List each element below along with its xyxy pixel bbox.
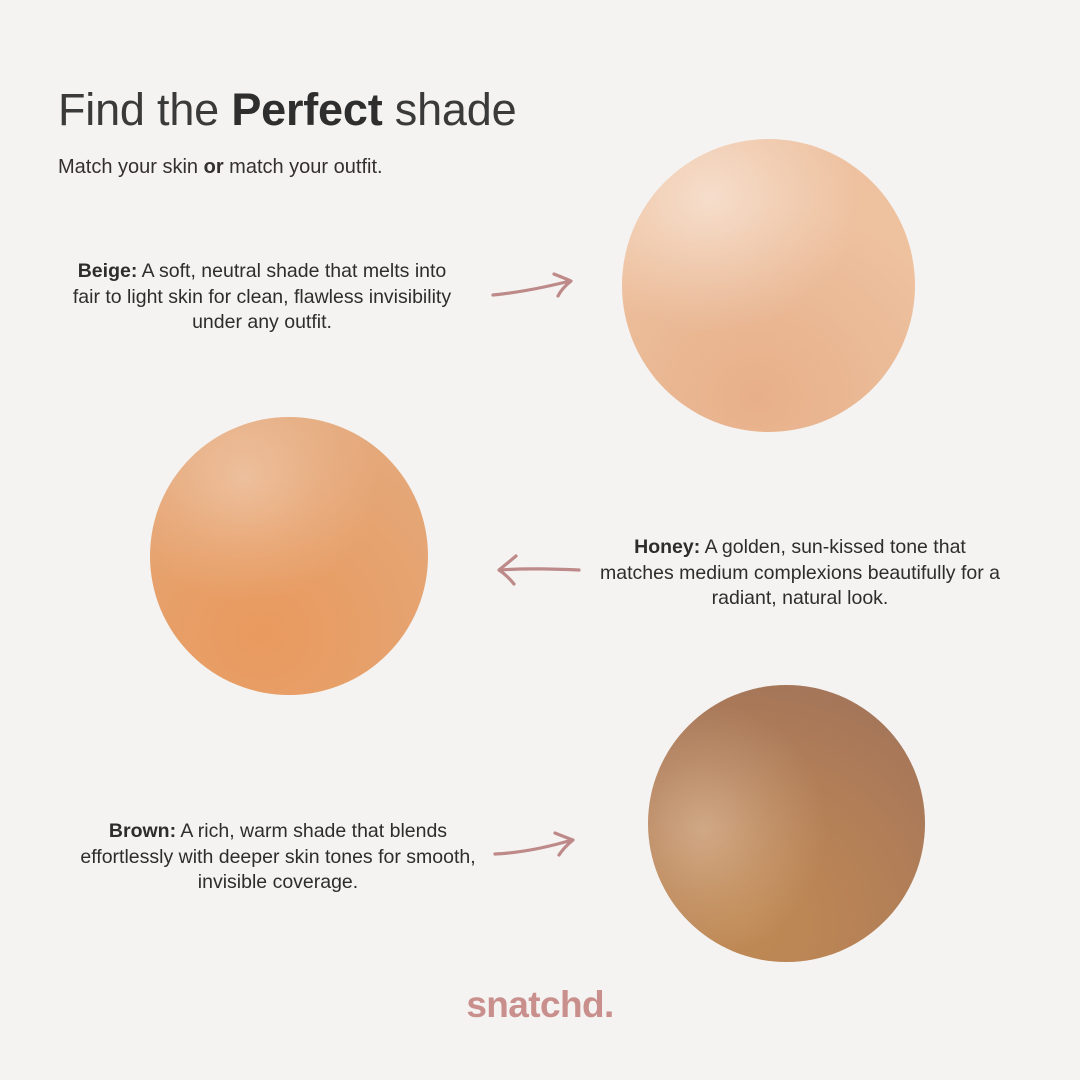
header: Find the Perfect shade Match your skin o… [58, 84, 678, 180]
shade-swatch-honey [150, 417, 428, 695]
poster-canvas: Find the Perfect shade Match your skin o… [0, 0, 1080, 1080]
arrow-right-icon-brown [492, 828, 584, 881]
shade-swatch-brown [648, 685, 925, 962]
shade-swatch-beige [622, 139, 915, 432]
headline-emphasis: Perfect [231, 84, 382, 135]
page-title: Find the Perfect shade [58, 84, 678, 136]
brand-logo: snatchd. [0, 984, 1080, 1026]
headline-part-1: Find the [58, 84, 231, 135]
headline-part-2: shade [383, 84, 517, 135]
subhead-part-2: match your outfit. [224, 156, 383, 178]
shade-label-honey: Honey: [634, 536, 700, 558]
arrow-left-icon-honey [484, 548, 582, 601]
shade-description-honey: Honey: A golden, sun-kissed tone that ma… [600, 535, 1000, 612]
subhead-emphasis: or [204, 156, 224, 178]
subhead-part-1: Match your skin [58, 156, 204, 178]
shade-label-beige: Beige: [78, 260, 138, 282]
shade-description-beige: Beige: A soft, neutral shade that melts … [62, 259, 462, 336]
page-subtitle: Match your skin or match your outfit. [58, 154, 678, 180]
shade-description-brown: Brown: A rich, warm shade that blends ef… [78, 819, 478, 896]
arrow-right-icon-beige [490, 268, 582, 321]
shade-label-brown: Brown: [109, 820, 176, 842]
